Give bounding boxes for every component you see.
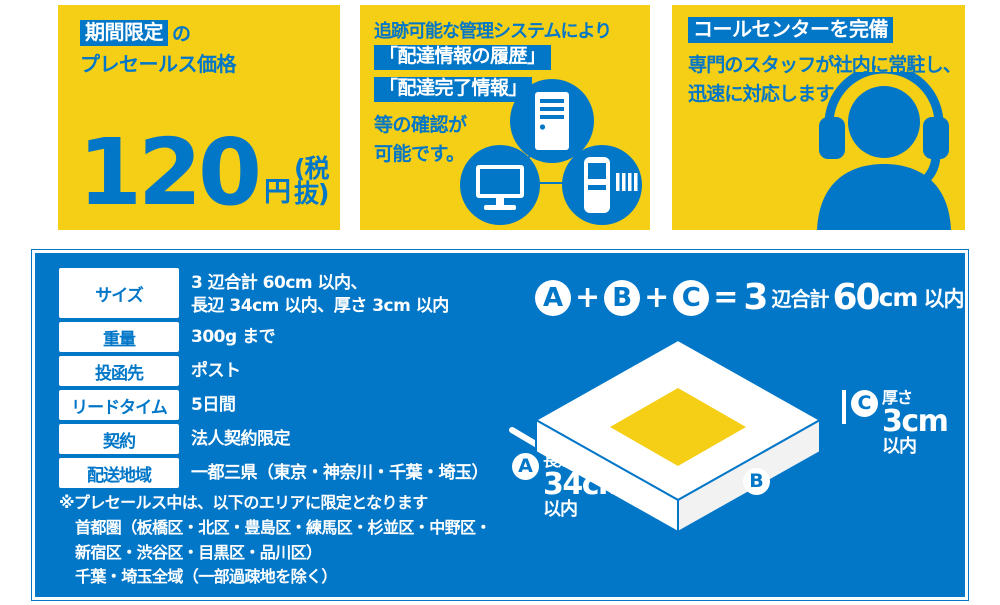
table-row: 投函先 ポスト bbox=[59, 356, 489, 386]
footnote-line-3: 新宿区・渋谷区・目黒区・品川区） bbox=[59, 541, 491, 566]
spec-label-size: サイズ bbox=[59, 268, 179, 318]
formula-number: 3 bbox=[743, 277, 767, 318]
tracking-line-2: 等の確認が bbox=[374, 110, 467, 137]
spec-value-contract: 法人契約限定 bbox=[179, 424, 290, 454]
price-tax-note: (税抜) bbox=[294, 156, 340, 206]
spec-value-size-line2: 長辺 34cm 以内、厚さ 3cm 以内 bbox=[191, 295, 449, 318]
price-subtitle: プレセールス価格 bbox=[80, 52, 236, 76]
monitor-icon bbox=[460, 145, 540, 225]
dimension-c: C 厚さ 3cm 以内 bbox=[842, 390, 947, 456]
limited-time-badge: 期間限定 bbox=[80, 20, 168, 46]
formula-value: 60 bbox=[832, 277, 878, 318]
size-formula: A + B + C = 3 辺合計 60 cm 以内 bbox=[535, 277, 963, 318]
dimension-c-limit: 以内 bbox=[882, 438, 947, 456]
formula-plus-2: + bbox=[644, 280, 669, 315]
dimension-a: A 長辺 34cm 以内 bbox=[512, 453, 628, 519]
dimension-b-badge: B bbox=[743, 468, 770, 495]
formula-plus-1: + bbox=[575, 280, 600, 315]
spec-value-area: 一都三県（東京・神奈川・千葉・埼玉） bbox=[179, 458, 488, 488]
footnote-line-4: 千葉・埼玉全域（一部過疎地を除く） bbox=[59, 565, 491, 590]
dimension-a-limit: 以内 bbox=[543, 501, 628, 519]
formula-badge-c: C bbox=[673, 280, 709, 316]
specifications-panel: サイズ 3 辺合計 60cm 以内、 長辺 34cm 以内、厚さ 3cm 以内 … bbox=[32, 250, 968, 600]
dimension-b: B bbox=[743, 468, 770, 495]
formula-equals: = bbox=[713, 280, 738, 315]
tracking-line-1: 追跡可能な管理システムにより bbox=[374, 17, 611, 43]
footnote-line-1: ※プレセールス中は、以下のエリアに限定となります bbox=[59, 491, 491, 516]
spec-value-size: 3 辺合計 60cm 以内、 長辺 34cm 以内、厚さ 3cm 以内 bbox=[179, 268, 449, 318]
price-headline: 期間限定 の bbox=[80, 19, 191, 46]
price-amount-row: 120 円 (税抜) bbox=[78, 134, 340, 212]
spec-value-dropoff: ポスト bbox=[179, 356, 241, 386]
price-amount: 120 bbox=[78, 134, 258, 212]
dimension-a-value: 34cm bbox=[543, 470, 628, 500]
spec-label-dropoff: 投函先 bbox=[59, 356, 179, 386]
tracking-badge-history: 「配達情報の履歴」 bbox=[374, 45, 551, 70]
spec-label-weight: 重量 bbox=[59, 322, 179, 352]
call-center-badge: コールセンターを完備 bbox=[688, 17, 893, 43]
formula-unit: cm bbox=[879, 283, 918, 312]
card-call-center: コールセンターを完備 専門のスタッフが社内に常駐し、 迅速に対応します。 bbox=[672, 5, 965, 230]
spec-value-weight: 300g まで bbox=[179, 322, 275, 352]
card-tracking-system: 追跡可能な管理システムにより 「配達情報の履歴」 「配達完了情報」 等の確認が … bbox=[360, 5, 650, 230]
formula-badge-b: B bbox=[604, 280, 640, 316]
dimension-c-badge: C bbox=[851, 390, 878, 417]
spec-label-leadtime: リードタイム bbox=[59, 390, 179, 420]
table-row: リードタイム 5日間 bbox=[59, 390, 489, 420]
table-row: 契約 法人契約限定 bbox=[59, 424, 489, 454]
spec-value-leadtime: 5日間 bbox=[179, 390, 235, 420]
formula-badge-a: A bbox=[535, 280, 571, 316]
table-row: サイズ 3 辺合計 60cm 以内、 長辺 34cm 以内、厚さ 3cm 以内 bbox=[59, 268, 489, 318]
price-currency: 円 bbox=[264, 179, 290, 206]
infographic-root: 期間限定 の プレセールス価格 120 円 (税抜) 追跡可能な管理システムによ… bbox=[0, 0, 1000, 605]
thickness-tick-icon bbox=[842, 390, 846, 424]
server-icon bbox=[510, 79, 594, 163]
spec-value-size-line1: 3 辺合計 60cm 以内、 bbox=[191, 272, 449, 295]
tracking-system-diagram bbox=[456, 73, 646, 228]
card-presale-price: 期間限定 の プレセールス価格 120 円 (税抜) bbox=[58, 5, 340, 230]
package-box-diagram: A 長辺 34cm 以内 B C 厚さ 3cm 以内 bbox=[490, 328, 960, 593]
formula-limit: 以内 bbox=[923, 283, 963, 313]
tracking-line-3: 可能です。 bbox=[374, 139, 465, 166]
spec-table: サイズ 3 辺合計 60cm 以内、 長辺 34cm 以内、厚さ 3cm 以内 … bbox=[59, 268, 489, 492]
table-row: 重量 300g まで bbox=[59, 322, 489, 352]
dimension-a-badge: A bbox=[512, 453, 539, 480]
handheld-scanner-icon bbox=[562, 145, 642, 225]
headset-operator-icon bbox=[803, 72, 965, 230]
formula-label: 辺合計 bbox=[771, 283, 828, 312]
footnote: ※プレセールス中は、以下のエリアに限定となります 首都圏（板橋区・北区・豊島区・… bbox=[59, 491, 491, 590]
spec-label-area: 配送地域 bbox=[59, 458, 179, 488]
footnote-line-2: 首都圏（板橋区・北区・豊島区・練馬区・杉並区・中野区・ bbox=[59, 516, 491, 541]
spec-label-contract: 契約 bbox=[59, 424, 179, 454]
dimension-c-value: 3cm bbox=[882, 407, 947, 437]
badge-suffix: の bbox=[172, 19, 191, 46]
table-row: 配送地域 一都三県（東京・神奈川・千葉・埼玉） bbox=[59, 458, 489, 488]
